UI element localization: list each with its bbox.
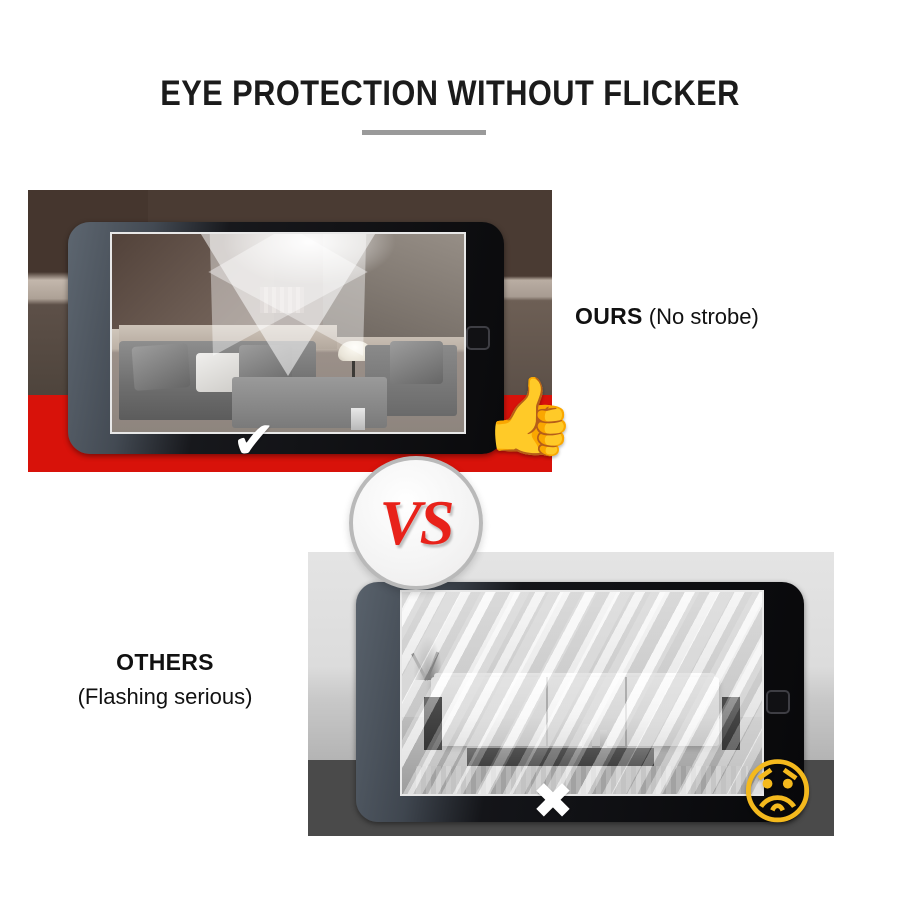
label-others: OTHERS (Flashing serious) <box>20 645 310 713</box>
page-title: EYE PROTECTION WITHOUT FLICKER <box>54 74 846 114</box>
room-lamp-stem <box>352 361 355 377</box>
thumbs-up-icon: 👍 <box>482 378 577 454</box>
room-cushion <box>132 343 191 390</box>
phone-home-button-ours <box>466 326 490 350</box>
room-vase <box>582 724 592 750</box>
room-wall-left <box>112 234 274 329</box>
room-floor-object <box>351 408 365 430</box>
room-sofa-arm <box>424 697 442 750</box>
infographic-root: EYE PROTECTION WITHOUT FLICKER <box>0 0 900 900</box>
phone-home-button-others <box>766 690 790 714</box>
room-sofa-seam <box>625 677 627 746</box>
vs-badge-label: VS <box>379 487 452 560</box>
room-wall-art <box>260 287 304 313</box>
room-wall-right <box>323 234 464 337</box>
room-sofa-white <box>431 677 719 746</box>
room-scene-grayscale <box>402 592 762 794</box>
title-divider <box>362 130 486 135</box>
room-rug <box>416 766 747 794</box>
phone-screen-others <box>400 590 764 796</box>
phone-device-others <box>356 582 804 822</box>
phone-screen-ours <box>110 232 466 434</box>
room-sofa-seam <box>546 677 548 746</box>
cross-icon: ✖ <box>532 776 574 826</box>
room-scene-color <box>112 234 464 432</box>
label-ours-name: OURS <box>575 303 643 329</box>
phone-device-ours <box>68 222 504 454</box>
label-others-name: OTHERS <box>20 645 310 680</box>
label-ours-qualifier: (No strobe) <box>649 304 759 329</box>
comparison-panel-ours <box>28 190 552 472</box>
room-sofa-arm <box>722 697 740 750</box>
sad-face-icon: 😟 <box>740 756 815 828</box>
room-vase <box>600 730 607 750</box>
room-cushion <box>390 341 443 385</box>
checkmark-icon: ✔ <box>232 415 276 467</box>
vs-badge: VS <box>349 456 483 590</box>
label-ours: OURS (No strobe) <box>575 303 759 330</box>
label-others-qualifier: (Flashing serious) <box>20 680 310 713</box>
